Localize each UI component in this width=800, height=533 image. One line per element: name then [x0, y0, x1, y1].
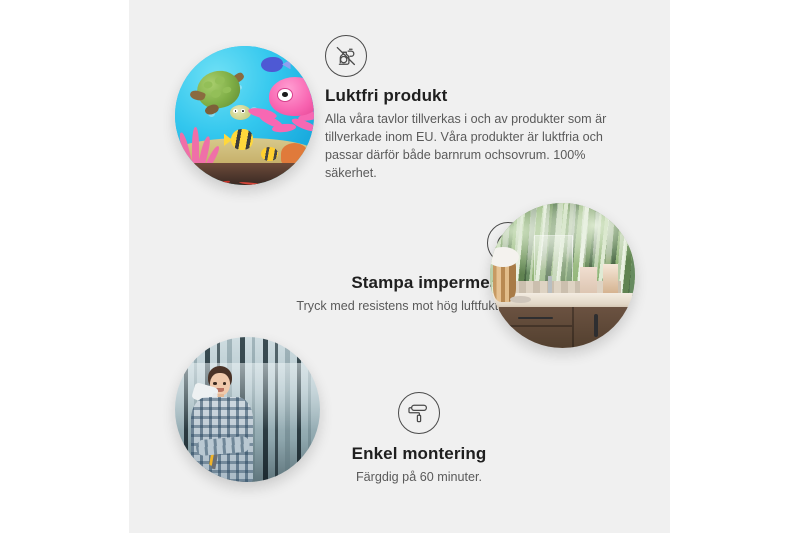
yellow-fish-small-icon: [261, 147, 278, 161]
icon-wrap: [189, 222, 529, 264]
white-flower: [490, 247, 519, 267]
photo-bathroom-tropical-wallpaper: [490, 203, 635, 348]
feature-body: Färgdig på 60 minuter.: [304, 469, 534, 487]
sea-foreground-band: [175, 163, 314, 185]
no-fragrance-spray-icon: [325, 35, 367, 77]
blue-fish-icon: [261, 57, 283, 72]
yellow-fish-icon: [231, 129, 253, 150]
turtle-icon: [189, 71, 247, 118]
photo-painter-forest-portrait: [175, 337, 320, 482]
feature-body: Alla våra tavlor tillverkas i och av pro…: [325, 111, 625, 183]
octopus-icon: [261, 77, 314, 141]
ribbed-vase: [493, 261, 516, 302]
feature-title: Stampa impermeabile: [189, 273, 529, 293]
page-root: Luktfri produkt Alla våra tavlor tillver…: [0, 0, 800, 533]
icon-wrap: [304, 392, 534, 434]
paint-roller-icon: [398, 392, 440, 434]
woman-with-paint-roller: [187, 366, 268, 482]
feature-title: Luktfri produkt: [325, 86, 625, 106]
feature-title: Enkel montering: [304, 444, 534, 464]
feature-waterproof: Stampa impermeabile Tryck med resistens …: [189, 222, 529, 316]
product-feature-panel: Luktfri produkt Alla våra tavlor tillver…: [129, 0, 670, 533]
photo-underwater-kids-scene: [175, 46, 314, 185]
feature-body: Tryck med resistens mot hög luftfuktighe…: [189, 298, 529, 316]
feature-easy-mounting: Enkel montering Färgdig på 60 minuter.: [304, 392, 534, 487]
soap-dish: [510, 296, 530, 303]
icon-wrap: [325, 35, 625, 77]
wooden-vanity: [499, 307, 635, 348]
mirror: [534, 235, 574, 286]
feature-odourless: Luktfri produkt Alla våra tavlor tillver…: [325, 35, 625, 183]
